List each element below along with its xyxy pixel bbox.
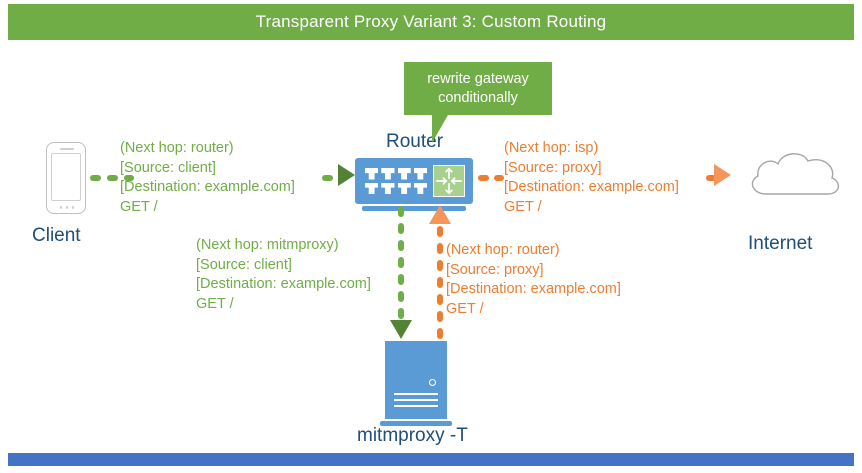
client-label: Client bbox=[32, 225, 81, 247]
smartphone-icon bbox=[46, 142, 86, 214]
packet-line: [Destination: example.com] bbox=[504, 178, 679, 198]
server-icon bbox=[385, 341, 447, 419]
packet-line: [Source: client] bbox=[120, 159, 295, 179]
packet-line: [Source: client] bbox=[196, 256, 371, 276]
page-title: Transparent Proxy Variant 3: Custom Rout… bbox=[256, 12, 607, 32]
arrow-into-router-green bbox=[338, 164, 355, 186]
callout-line-1: rewrite gateway bbox=[427, 70, 529, 89]
phone-speaker bbox=[60, 148, 74, 150]
packet-line: GET / bbox=[196, 295, 371, 315]
connector-router-to-internet-head bbox=[478, 175, 504, 181]
router-routing-pad-icon bbox=[433, 165, 465, 197]
callout-tail bbox=[432, 115, 448, 143]
callout-rewrite-gateway: rewrite gateway conditionally bbox=[404, 62, 552, 115]
phone-screen bbox=[51, 153, 81, 201]
connector-proxy-to-router bbox=[437, 226, 443, 341]
packet-line: (Next hop: router) bbox=[446, 241, 621, 261]
packet-line: (Next hop: isp) bbox=[504, 139, 679, 159]
bottom-accent-bar bbox=[8, 453, 854, 466]
diagram-title-bar: Transparent Proxy Variant 3: Custom Rout… bbox=[8, 4, 854, 40]
router-ports bbox=[365, 168, 427, 194]
packet-line: (Next hop: router) bbox=[120, 139, 295, 159]
internet-label: Internet bbox=[748, 233, 812, 255]
packet-client-to-router: (Next hop: router) [Source: client] [Des… bbox=[120, 139, 295, 217]
packet-line: (Next hop: mitmproxy) bbox=[196, 236, 371, 256]
server-indicator-icon bbox=[429, 379, 436, 386]
packet-line: GET / bbox=[120, 198, 295, 218]
packet-line: GET / bbox=[504, 198, 679, 218]
packet-line: [Destination: example.com] bbox=[120, 178, 295, 198]
mitmproxy-label: mitmproxy -T bbox=[357, 425, 468, 447]
packet-line: [Source: proxy] bbox=[446, 261, 621, 281]
callout-line-2: conditionally bbox=[427, 89, 529, 108]
packet-proxy-to-router: (Next hop: router) [Source: proxy] [Dest… bbox=[446, 241, 621, 319]
arrow-into-router-orange bbox=[429, 205, 451, 224]
packet-line: [Source: proxy] bbox=[504, 159, 679, 179]
packet-router-to-internet: (Next hop: isp) [Source: proxy] [Destina… bbox=[504, 139, 679, 217]
arrow-into-internet-orange bbox=[714, 164, 731, 186]
packet-line: [Destination: example.com] bbox=[196, 275, 371, 295]
arrow-into-proxy-green bbox=[390, 320, 412, 339]
packet-line: [Destination: example.com] bbox=[446, 280, 621, 300]
router-icon bbox=[355, 158, 473, 204]
packet-router-to-proxy: (Next hop: mitmproxy) [Source: client] [… bbox=[196, 236, 371, 314]
packet-line: GET / bbox=[446, 300, 621, 320]
phone-home-dots bbox=[60, 206, 74, 209]
server-slots bbox=[394, 393, 438, 411]
cloud-icon bbox=[742, 148, 846, 210]
connector-router-to-proxy bbox=[398, 206, 404, 332]
